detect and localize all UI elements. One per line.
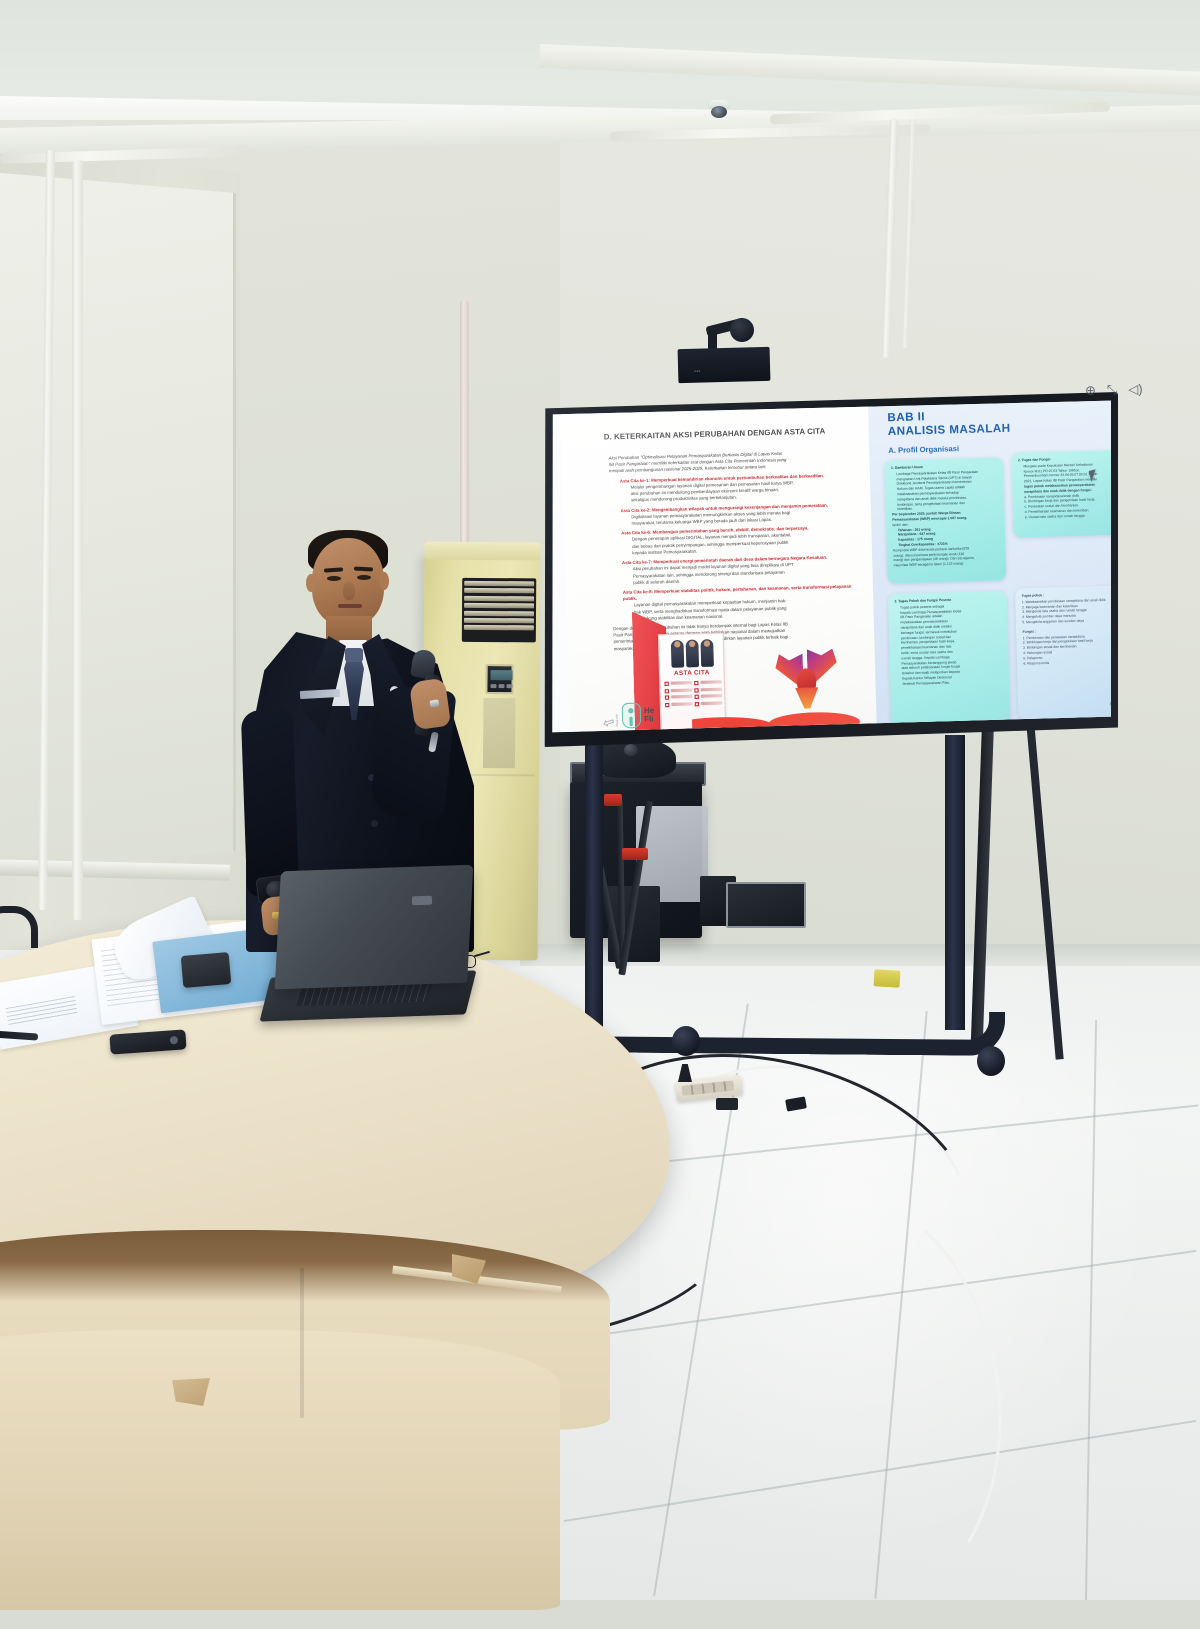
section-heading: A. Profil Organisasi [888, 444, 959, 455]
flipbook-page-right[interactable]: BAB II ANALISIS MASALAH A. Profil Organi… [868, 400, 1111, 734]
laptop[interactable] [260, 868, 472, 1018]
logo-line2: Fli [644, 715, 654, 724]
ear [379, 572, 389, 590]
flipbook-mark-icon [622, 703, 642, 729]
mount-brand-label: ▪▪▪ [694, 369, 701, 375]
tripod-clamp[interactable] [622, 848, 648, 860]
tv-stand-wheel [672, 1026, 700, 1056]
cctv-camera-icon [706, 100, 732, 118]
power-plug [716, 1098, 738, 1110]
info-box-tugas-pokok-list: Tugas pokok : 1. Melaksanakan pembinaan … [1015, 586, 1111, 720]
tv-stand-column [585, 742, 603, 1032]
conference-room-scene: ▪▪▪ D. KETERKAITAN AKSI PERUBAHAN DENGAN… [0, 0, 1200, 1600]
tv-stand-column [945, 735, 965, 1030]
fullscreen-exit-icon[interactable]: ⤡ [1107, 383, 1118, 396]
projector-mount-box: ▪▪▪ [678, 347, 771, 383]
conduit-pipe [72, 160, 83, 920]
ac-button[interactable] [498, 684, 504, 688]
flight-case [726, 882, 806, 928]
chapter-title: ANALISIS MASALAH [888, 423, 1011, 441]
ear [306, 574, 316, 592]
jacket-button [371, 820, 378, 827]
info-box-tugas-fungsi: 2. Tugas dan Fungsi Mengacu pada Keputus… [1011, 450, 1111, 538]
info-box-tugas-peserta: 3. Tugas Pokok dan Fungsi Peserta Tugas … [888, 591, 1011, 734]
viewer-toolbar[interactable]: ⊕ ⤡ ◁) [1085, 382, 1143, 396]
table-seam [300, 1268, 304, 1418]
zoom-in-icon[interactable]: ⊕ [1085, 383, 1096, 396]
eye [357, 575, 371, 580]
table-base [0, 1330, 560, 1610]
stand-label-sticker [874, 969, 901, 987]
flipbook-page-left[interactable]: D. KETERKAITAN AKSI PERUBAHAN DENGAN AST… [561, 400, 878, 734]
heyzine-flipbook-logo[interactable]: made with He Fli [615, 702, 654, 728]
projector-lens-icon [730, 318, 754, 342]
tv-stand-wheel [977, 1046, 1005, 1076]
mouth [338, 604, 362, 608]
laptop-lid [275, 865, 474, 990]
nose [343, 582, 355, 600]
black-wallet [181, 952, 232, 988]
tv-screen[interactable]: D. KETERKAITAN AKSI PERUBAHAN DENGAN AST… [550, 400, 1111, 734]
tie-knot [345, 648, 363, 662]
info-box-gambaran-umum: 1. Gambaran Umum Lembaga Pemasyarakatan … [884, 457, 1006, 583]
garuda-bird-graphic [775, 648, 838, 709]
volume-icon[interactable]: ◁) [1128, 382, 1143, 395]
wall-whiteboard [0, 172, 236, 872]
poster-title: ASTA CITA [660, 670, 724, 678]
ac-button[interactable] [506, 684, 512, 688]
smart-tv-display[interactable]: D. KETERKAITAN AKSI PERUBAHAN DENGAN AST… [543, 392, 1118, 747]
logo-tagline: made with [615, 705, 619, 726]
chapter-heading: BAB II ANALISIS MASALAH [887, 408, 1010, 440]
tripod-clamp[interactable] [604, 794, 622, 806]
conduit-pipe [460, 300, 469, 550]
slide-left-heading: D. KETERKAITAN AKSI PERUBAHAN DENGAN AST… [604, 426, 832, 443]
eye [327, 576, 341, 581]
laptop-brand-logo [412, 896, 432, 906]
